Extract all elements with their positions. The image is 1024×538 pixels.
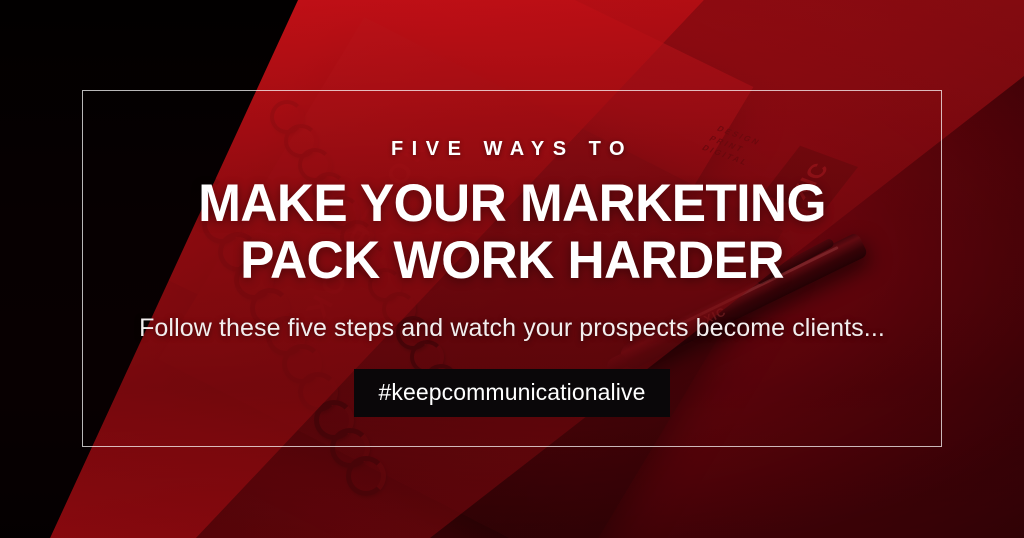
banner-content: FIVE WAYS TO MAKE YOUR MARKETING PACK WO…	[0, 138, 1024, 417]
headline: MAKE YOUR MARKETING PACK WORK HARDER	[0, 175, 1024, 289]
headline-line-2: PACK WORK HARDER	[15, 232, 1008, 289]
headline-line-1: MAKE YOUR MARKETING	[15, 175, 1008, 232]
hashtag-badge[interactable]: #keepcommunicationalive	[354, 369, 671, 417]
marketing-banner: DESIGN PRINT DIGITAL XIC NOTEBOOK	[0, 0, 1024, 538]
eyebrow-text: FIVE WAYS TO	[0, 138, 1024, 161]
subheadline-text: Follow these five steps and watch your p…	[0, 314, 1024, 343]
hashtag-container: #keepcommunicationalive	[0, 369, 1024, 417]
